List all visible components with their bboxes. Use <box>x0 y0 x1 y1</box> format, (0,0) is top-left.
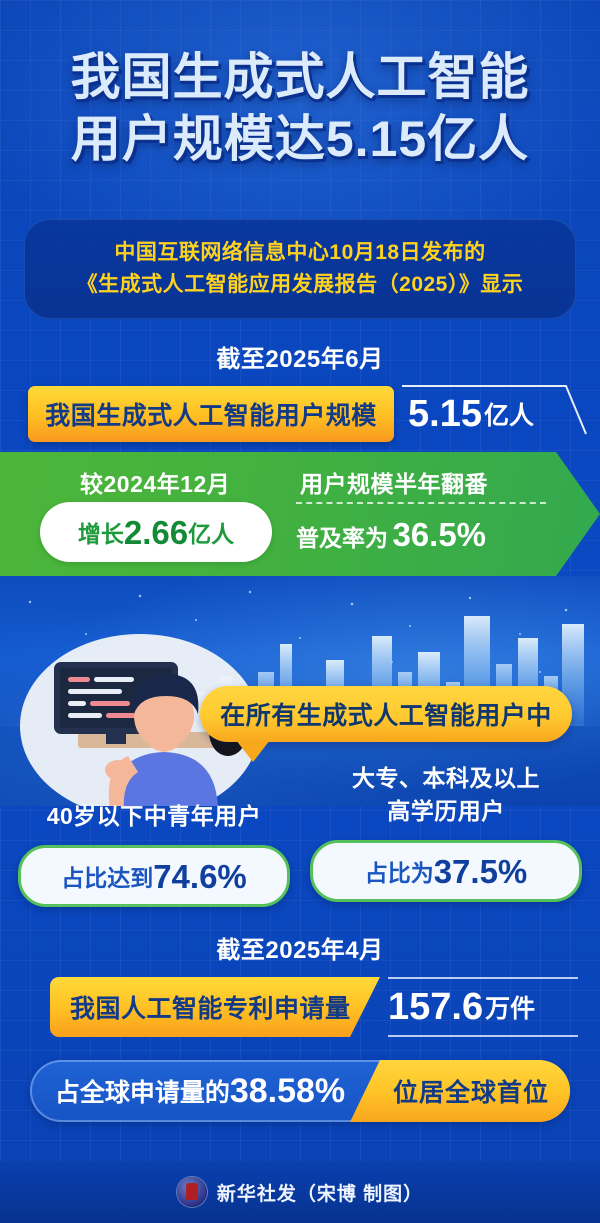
subtitle-line-1: 中国互联网络信息中心10月18日发布的 <box>114 237 485 269</box>
growth-right-prefix: 普及率为 <box>296 525 388 551</box>
global-rank-badge: 位居全球首位 <box>350 1060 570 1122</box>
page-title: 我国生成式人工智能 用户规模达5.15亿人 <box>0 46 600 170</box>
user-scale-metric-pill: 我国生成式人工智能用户规模 <box>28 386 394 442</box>
patent-value: 157.6 <box>388 988 483 1026</box>
demographic-age-value: 74.6% <box>153 860 247 893</box>
growth-dashed-divider <box>296 502 546 504</box>
xinhua-logo-icon <box>177 1177 207 1207</box>
demographic-education-value: 37.5% <box>434 855 528 888</box>
demographics-bubble: 在所有生成式人工智能用户中 <box>200 686 572 742</box>
global-share-value-group: 占全球申请量的 38.58% <box>30 1060 370 1122</box>
title-line-2: 用户规模达5.15亿人 <box>0 108 600 170</box>
demographic-column-age: 40岁以下中青年用户 占比达到 74.6% <box>18 800 290 907</box>
demographic-age-pill: 占比达到 74.6% <box>18 845 290 907</box>
patent-metric-pill: 我国人工智能专利申请量 <box>50 977 380 1037</box>
growth-right-caption: 用户规模半年翻番 <box>300 465 488 499</box>
patent-metric-label: 我国人工智能专利申请量 <box>70 989 351 1025</box>
demographic-education-caption-1: 大专、本科及以上 <box>310 762 582 795</box>
date-label-patents: 截至2025年4月 <box>0 930 600 965</box>
patent-unit: 万件 <box>485 989 535 1025</box>
growth-penetration-group: 普及率为 36.5% <box>296 516 486 554</box>
date-label-user-scale: 截至2025年6月 <box>0 339 600 374</box>
growth-left-value: 2.66 <box>124 516 188 549</box>
patent-row: 我国人工智能专利申请量 157.6 万件 <box>0 977 600 1039</box>
subtitle-line-2: 《生成式人工智能应用发展报告（2025）》显示 <box>77 269 524 301</box>
global-share-value: 38.58% <box>230 1074 345 1108</box>
demographics-section: 40岁以下中青年用户 占比达到 74.6% 大专、本科及以上 高学历用户 占比为… <box>0 762 600 902</box>
demographic-education-pill: 占比为 37.5% <box>310 840 582 902</box>
demographics-bubble-label: 在所有生成式人工智能用户中 <box>220 696 552 732</box>
demographic-column-education: 大专、本科及以上 高学历用户 占比为 37.5% <box>310 762 582 902</box>
user-scale-row: 我国生成式人工智能用户规模 5.15 亿人 <box>0 386 600 444</box>
demographic-age-caption: 40岁以下中青年用户 <box>18 800 290 833</box>
title-line-1: 我国生成式人工智能 <box>0 46 600 108</box>
growth-band: 较2024年12月 用户规模半年翻番 增长 2.66 亿人 普及率为 36.5% <box>0 452 600 576</box>
growth-value-pill: 增长 2.66 亿人 <box>40 502 272 562</box>
global-share-prefix: 占全球申请量的 <box>55 1073 230 1109</box>
global-rank-label: 位居全球首位 <box>371 1073 549 1109</box>
demographic-education-prefix: 占比为 <box>365 854 434 888</box>
user-scale-value-group: 5.15 亿人 <box>408 386 588 442</box>
user-scale-metric-label: 我国生成式人工智能用户规模 <box>45 396 377 432</box>
patent-value-group: 157.6 万件 <box>388 977 578 1037</box>
growth-left-unit: 亿人 <box>188 515 234 549</box>
subtitle-panel: 中国互联网络信息中心10月18日发布的 《生成式人工智能应用发展报告（2025）… <box>24 219 576 319</box>
infographic-page: 我国生成式人工智能 用户规模达5.15亿人 中国互联网络信息中心10月18日发布… <box>0 0 600 1223</box>
growth-left-prefix: 增长 <box>78 515 124 549</box>
user-scale-value: 5.15 <box>408 395 482 433</box>
growth-right-value: 36.5% <box>392 516 486 553</box>
growth-left-caption: 较2024年12月 <box>80 465 230 499</box>
demographic-age-prefix: 占比达到 <box>61 859 153 893</box>
footer: 新华社发（宋博 制图） <box>0 1161 600 1223</box>
footer-credit: 新华社发（宋博 制图） <box>217 1179 423 1206</box>
user-scale-unit: 亿人 <box>484 396 534 432</box>
demographic-education-caption-2: 高学历用户 <box>310 795 582 828</box>
global-share-row: 占全球申请量的 38.58% 位居全球首位 <box>30 1060 570 1122</box>
